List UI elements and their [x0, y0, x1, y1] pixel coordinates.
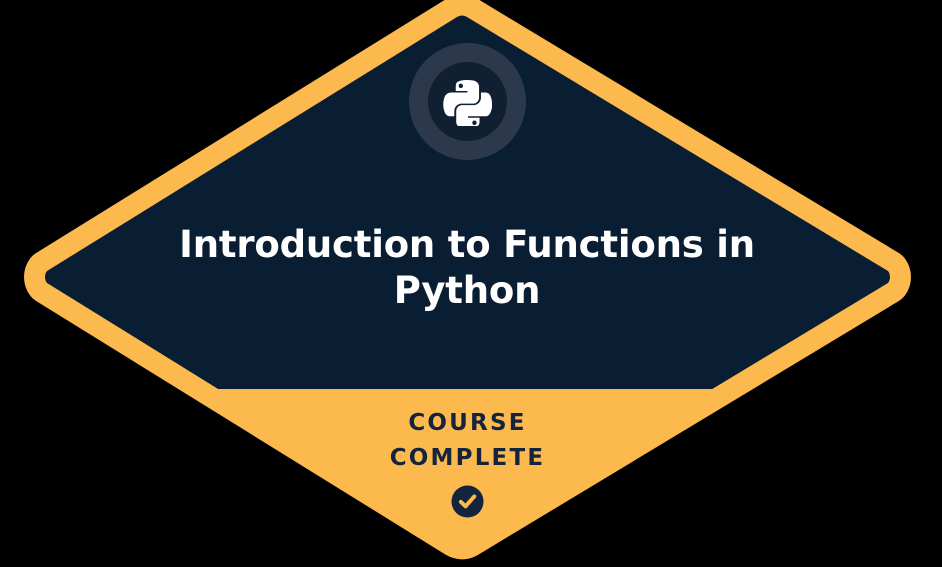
diamond-plate [0, 0, 942, 567]
diamond-inner-fill [0, 0, 942, 567]
course-completion-badge: Introduction to Functions in Python COUR… [0, 0, 942, 567]
